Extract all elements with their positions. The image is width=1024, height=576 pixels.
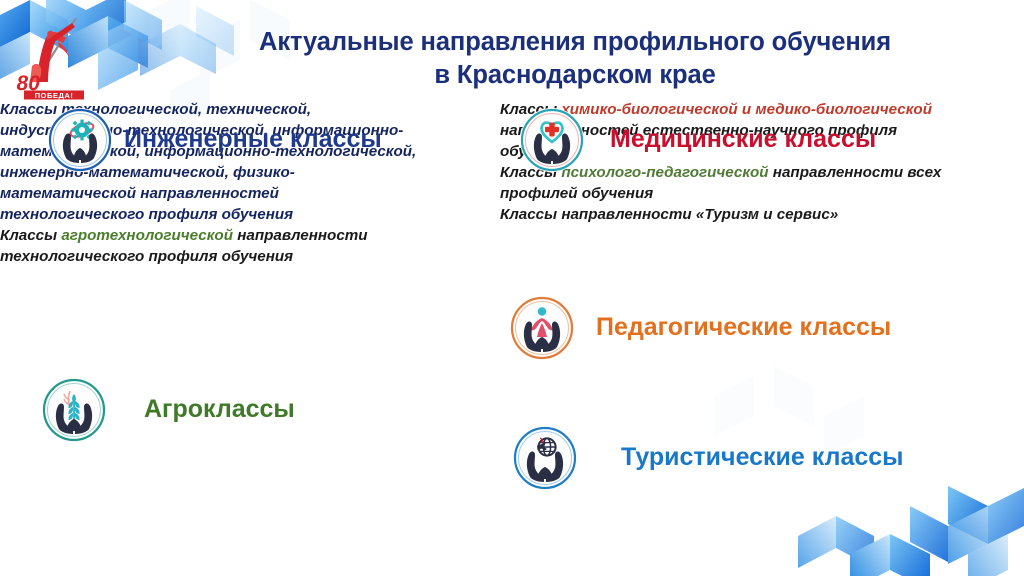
page-title: Актуальные направления профильного обуче… — [180, 26, 970, 92]
hands-gear-icon — [48, 108, 112, 172]
left-column: Инженерные классы Классы технологической… — [0, 100, 505, 268]
agro-text-part-1: агротехнологической — [61, 227, 233, 244]
page-title-line2: в Краснодарском крае — [180, 59, 970, 92]
section-agro-heading: Агроклассы — [144, 396, 295, 424]
section-agro-header: Агроклассы — [42, 378, 295, 442]
section-engineering-heading: Инженерные классы — [124, 126, 382, 154]
svg-text:ПОБЕДА!: ПОБЕДА! — [35, 91, 74, 100]
victory-80-logo: 80 ПОБЕДА! — [14, 12, 92, 100]
tourism-text-part-0: Классы направленности «Туризм и сервис» — [500, 206, 838, 223]
hands-heart-cross-icon — [520, 108, 584, 172]
right-column: Медицинские классы Классы химико-биологи… — [500, 100, 1024, 226]
agro-text-part-0: Классы — [0, 227, 61, 244]
hands-person-icon — [510, 296, 574, 360]
section-medical-heading: Медицинские классы — [610, 126, 876, 154]
page-title-line1: Актуальные направления профильного обуче… — [259, 28, 891, 56]
section-medical-header: Медицинские классы — [520, 108, 876, 172]
section-pedagogical-header: Педагогические классы — [510, 296, 891, 360]
hands-wheat-icon — [42, 378, 106, 442]
hands-globe-plane-icon — [513, 426, 577, 490]
section-tourism-text: Классы направленности «Туризм и сервис» — [500, 205, 900, 226]
section-pedagogical-heading: Педагогические классы — [596, 314, 891, 342]
section-tourism-header: Туристические классы — [513, 426, 904, 490]
section-tourism-heading: Туристические классы — [621, 444, 904, 472]
section-agro-text: Классы агротехнологической направленност… — [0, 226, 400, 268]
section-engineering-header: Инженерные классы — [48, 108, 382, 172]
